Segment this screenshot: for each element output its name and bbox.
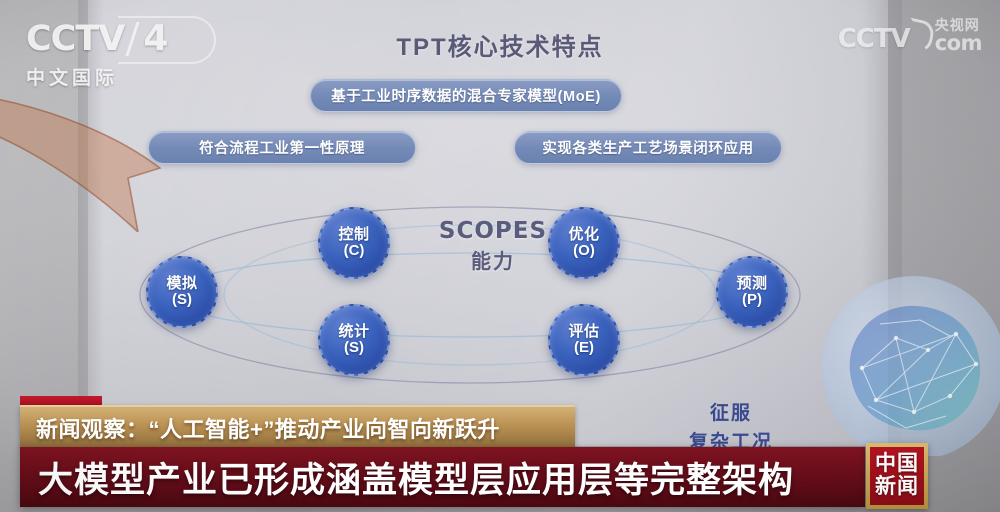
- node-label-cn: 模拟: [166, 276, 197, 292]
- center-label-en: SCOPES: [408, 218, 578, 244]
- scopes-node-control: 控制 (C): [318, 207, 390, 279]
- feature-pill-closed-loop: 实现各类生产工艺场景闭环应用: [514, 131, 782, 164]
- node-label-en: (S): [344, 340, 364, 356]
- scopes-node-evaluation: 评估 (E): [548, 304, 620, 376]
- headline-text: 大模型产业已形成涵盖模型层应用层等完整架构: [38, 452, 794, 503]
- node-label-cn: 控制: [338, 227, 369, 243]
- slide-title: TPT核心技术特点: [0, 27, 1000, 62]
- scopes-node-prediction: 预测 (P): [716, 256, 788, 328]
- logo-subtitle: 中文国际: [26, 63, 216, 90]
- caption-line-1: 征服: [710, 403, 752, 424]
- slide-caption-conquer: 征服 复杂工况: [666, 398, 796, 454]
- node-label-cn: 统计: [338, 324, 369, 340]
- program-badge-line-2: 新闻: [875, 476, 919, 499]
- center-label-cn: 能力: [408, 245, 578, 274]
- program-badge: 中国 新闻: [866, 443, 928, 509]
- node-label-en: (P): [742, 292, 762, 308]
- broadcast-frame: CCTV 4 中文国际 CCTV 央视网 com TPT核心技术特点 基于工业时…: [0, 0, 1000, 512]
- node-label-cn: 预测: [736, 276, 767, 292]
- headline-bar: 大模型产业已形成涵盖模型层应用层等完整架构: [20, 447, 865, 507]
- digital-brain-graphic: [810, 276, 1000, 456]
- scopes-node-statistics: 统计 (S): [318, 304, 390, 376]
- feature-pill-first-principles: 符合流程工业第一性原理: [148, 131, 416, 164]
- node-label-en: (C): [344, 243, 365, 259]
- subtitle-text: 新闻观察：“人工智能+”推动产业向智向新跃升: [36, 412, 500, 444]
- node-label-en: (S): [172, 292, 192, 308]
- feature-pill-moe: 基于工业时序数据的混合专家模型(MoE): [310, 79, 622, 112]
- scopes-center-label: SCOPES 能力: [408, 218, 578, 274]
- node-label-cn: 评估: [568, 324, 599, 340]
- node-label-en: (E): [574, 340, 594, 356]
- scopes-node-simulation: 模拟 (S): [146, 256, 218, 328]
- subtitle-bar: 新闻观察：“人工智能+”推动产业向智向新跃升: [20, 405, 575, 449]
- program-badge-line-1: 中国: [875, 453, 919, 476]
